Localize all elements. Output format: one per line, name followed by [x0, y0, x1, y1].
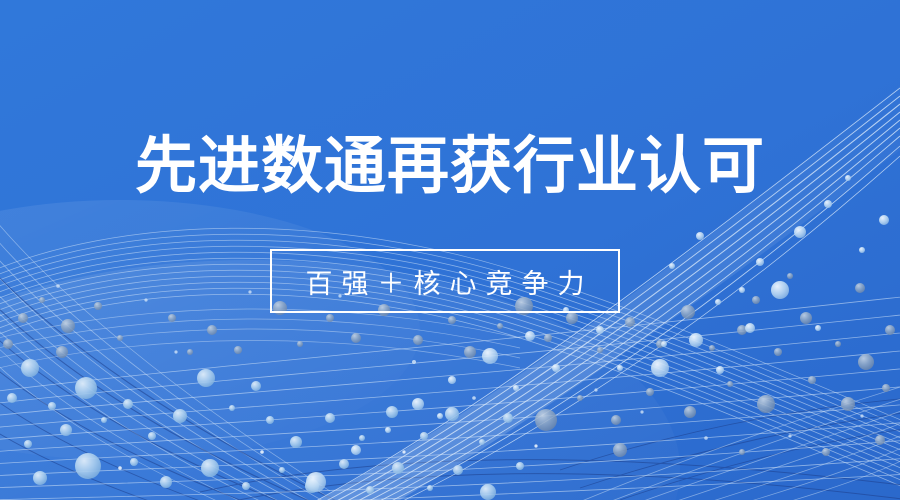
- page-title: 先进数通再获行业认可: [0, 133, 900, 201]
- banner-content: 先进数通再获行业认可 百强＋核心竞争力: [0, 0, 900, 500]
- promo-banner: 先进数通再获行业认可 百强＋核心竞争力: [0, 0, 900, 500]
- subtitle-badge: 百强＋核心竞争力: [270, 249, 620, 313]
- subtitle-text: 百强＋核心竞争力: [297, 262, 594, 301]
